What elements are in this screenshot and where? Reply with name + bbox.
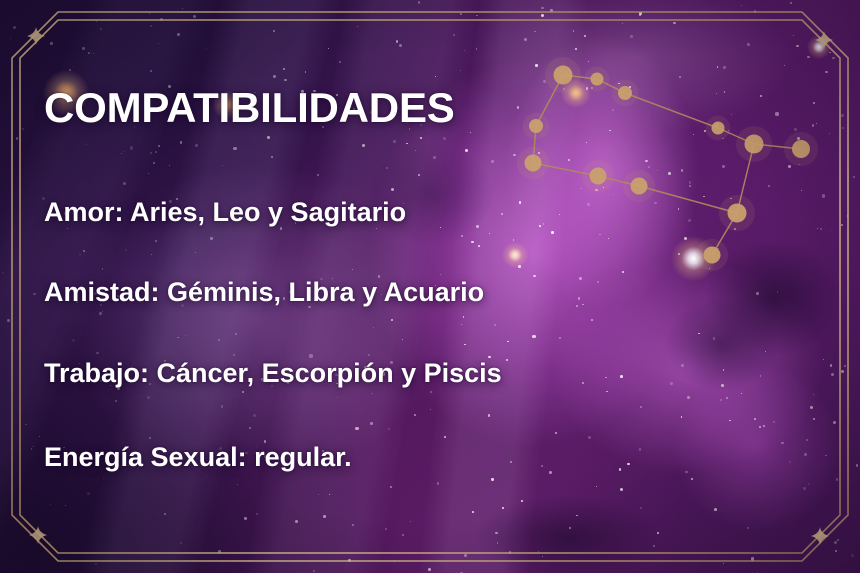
star-dot — [760, 375, 762, 377]
star-dot — [584, 35, 586, 37]
star-dot — [832, 57, 835, 60]
star-dot — [836, 478, 838, 480]
star-dot — [763, 425, 765, 427]
star-dot — [765, 351, 766, 352]
star-dot — [773, 421, 775, 423]
star-dot — [691, 478, 693, 480]
compatibility-line-trabajo: Trabajo: Cáncer, Escorpión y Piscis — [44, 359, 744, 389]
star-dot — [813, 418, 815, 420]
star-dot — [460, 13, 462, 15]
star-dot — [801, 190, 802, 191]
star-dot — [825, 71, 827, 73]
sparkle-icon-3 — [811, 527, 829, 545]
star-dot — [534, 31, 536, 33]
star-dot — [352, 524, 354, 526]
star-dot — [323, 515, 326, 518]
star-dot — [244, 517, 246, 519]
star-dot — [639, 14, 641, 16]
horoscope-compatibility-poster: COMPATIBILIDADES Amor: Aries, Leo y Sagi… — [0, 0, 860, 573]
star-dot — [829, 52, 830, 53]
star-dot — [2, 272, 4, 274]
star-dot — [788, 165, 791, 168]
star-dot — [775, 112, 778, 115]
star-dot — [573, 30, 574, 31]
star-dot — [283, 68, 285, 70]
star-dot — [781, 442, 784, 445]
star-dot — [853, 176, 855, 178]
star-dot — [812, 124, 814, 126]
star-dot — [847, 215, 848, 216]
star-dot — [622, 23, 623, 24]
star-dot — [7, 319, 10, 322]
star-dot — [535, 64, 538, 67]
star-dot — [22, 128, 24, 130]
star-dot — [673, 22, 676, 25]
star-dot — [653, 545, 655, 547]
star-dot — [476, 48, 478, 50]
star-dot — [714, 508, 717, 511]
star-dot — [541, 14, 544, 17]
star-dot — [823, 359, 824, 360]
star-dot — [741, 5, 742, 6]
star-dot — [410, 521, 411, 522]
star-dot — [804, 453, 807, 456]
star-dot — [576, 515, 577, 516]
sparkle-icon-4 — [29, 526, 47, 544]
bright-star-6 — [807, 35, 830, 58]
star-dot — [73, 67, 74, 68]
constellation-node-n6 — [792, 140, 810, 158]
star-dot — [820, 228, 822, 230]
sparkle-icon-2 — [815, 31, 833, 49]
star-dot — [418, 1, 421, 4]
star-dot — [844, 365, 846, 367]
star-dot — [813, 394, 814, 395]
star-dot — [29, 525, 30, 526]
star-dot — [841, 114, 844, 117]
compatibility-line-amor: Amor: Aries, Leo y Sagitario — [44, 198, 744, 228]
star-dot — [491, 478, 493, 480]
star-dot — [793, 35, 794, 36]
star-dot — [339, 61, 341, 63]
star-dot — [797, 137, 800, 140]
star-dot — [760, 95, 762, 97]
star-dot — [509, 551, 512, 554]
star-dot — [829, 133, 830, 134]
star-dot — [95, 563, 98, 566]
star-dot — [837, 539, 839, 541]
star-dot — [856, 464, 859, 467]
star-dot — [93, 53, 94, 54]
constellation-node-n5 — [745, 135, 764, 154]
star-dot — [150, 70, 152, 72]
star-dot — [50, 542, 51, 543]
star-dot — [831, 373, 834, 376]
star-dot — [88, 52, 90, 54]
star-dot — [575, 48, 577, 50]
text-content: COMPATIBILIDADES Amor: Aries, Leo y Sagi… — [44, 86, 744, 473]
star-dot — [495, 532, 498, 535]
star-dot — [723, 563, 724, 564]
star-dot — [18, 66, 19, 67]
star-dot — [759, 426, 761, 428]
star-dot — [158, 43, 159, 44]
star-dot — [543, 80, 546, 83]
star-dot — [399, 44, 402, 47]
star-dot — [437, 482, 440, 485]
star-dot — [50, 42, 53, 45]
star-dot — [588, 61, 589, 62]
star-dot — [542, 556, 543, 557]
star-dot — [796, 45, 798, 47]
star-dot — [464, 50, 465, 51]
star-dot — [13, 26, 16, 29]
star-dot — [807, 56, 809, 58]
star-dot — [630, 35, 633, 38]
star-dot — [834, 541, 837, 544]
star-dot — [794, 128, 797, 131]
star-dot — [679, 76, 681, 78]
star-dot — [784, 65, 785, 66]
page-title: COMPATIBILIDADES — [44, 86, 744, 130]
star-dot — [328, 48, 329, 49]
star-dot — [851, 554, 854, 557]
star-dot — [620, 488, 623, 491]
star-dot — [10, 38, 11, 39]
star-dot — [402, 534, 404, 536]
star-dot — [472, 511, 474, 513]
star-dot — [460, 70, 461, 71]
star-dot — [394, 561, 395, 562]
star-dot — [100, 28, 102, 30]
sparkle-icon-1 — [27, 27, 45, 45]
star-dot — [273, 75, 276, 78]
star-dot — [33, 446, 34, 447]
star-dot — [476, 15, 478, 17]
star-dot — [830, 230, 831, 231]
star-dot — [464, 554, 467, 557]
star-dot — [754, 10, 757, 13]
star-dot — [806, 439, 809, 442]
star-dot — [16, 137, 18, 139]
constellation-link — [563, 75, 597, 79]
star-dot — [789, 461, 791, 463]
star-dot — [453, 34, 455, 36]
star-dot — [284, 79, 287, 82]
star-dot — [747, 527, 749, 529]
constellation-link — [754, 144, 801, 149]
star-dot — [825, 455, 827, 457]
star-dot — [96, 21, 97, 22]
star-dot — [177, 33, 180, 36]
star-dot — [435, 76, 436, 77]
star-dot — [39, 436, 40, 437]
star-dot — [798, 164, 800, 166]
star-dot — [25, 424, 27, 426]
star-dot — [723, 66, 726, 69]
star-dot — [33, 293, 35, 295]
constellation-node-n2 — [591, 73, 604, 86]
star-dot — [657, 532, 659, 534]
star-dot — [295, 520, 298, 523]
constellation-node-n1 — [554, 66, 573, 85]
star-dot — [756, 292, 759, 295]
star-dot — [313, 570, 315, 572]
star-dot — [754, 418, 756, 420]
star-dot — [206, 48, 207, 49]
star-dot — [521, 500, 524, 503]
star-dot — [817, 228, 818, 229]
star-dot — [390, 486, 392, 488]
star-dot — [842, 127, 844, 129]
star-dot — [639, 12, 642, 15]
star-dot — [550, 9, 552, 11]
star-dot — [596, 486, 597, 487]
star-dot — [717, 66, 718, 67]
star-dot — [82, 47, 85, 50]
star-dot — [256, 513, 258, 515]
star-dot — [808, 483, 810, 485]
compatibility-line-energia: Energía Sexual: regular. — [44, 443, 744, 473]
star-dot — [777, 291, 778, 292]
star-dot — [841, 224, 843, 226]
star-dot — [786, 156, 787, 157]
star-dot — [502, 507, 504, 509]
star-dot — [305, 71, 306, 72]
star-dot — [830, 364, 833, 367]
star-dot — [396, 40, 399, 43]
star-dot — [87, 492, 90, 495]
star-dot — [249, 560, 250, 561]
star-dot — [810, 406, 813, 409]
star-dot — [160, 18, 163, 21]
star-dot — [640, 507, 642, 509]
star-dot — [768, 185, 770, 187]
star-dot — [273, 30, 275, 32]
star-dot — [618, 83, 619, 84]
star-dot — [803, 487, 806, 490]
star-dot — [816, 123, 817, 124]
star-dot — [348, 559, 351, 562]
star-dot — [193, 15, 196, 18]
star-dot — [164, 513, 166, 515]
star-dot — [813, 102, 815, 104]
star-dot — [538, 551, 539, 552]
star-dot — [569, 527, 571, 529]
star-dot — [218, 550, 221, 553]
star-dot — [237, 484, 238, 485]
constellation-node-halo — [784, 132, 818, 166]
star-dot — [329, 494, 330, 495]
star-dot — [149, 13, 150, 14]
star-dot — [318, 494, 319, 495]
star-dot — [37, 453, 38, 454]
star-dot — [524, 38, 527, 41]
star-dot — [65, 505, 66, 506]
star-dot — [428, 568, 431, 571]
compatibility-line-amistad: Amistad: Géminis, Libra y Acuario — [44, 278, 744, 308]
star-dot — [150, 25, 152, 27]
star-dot — [103, 478, 104, 479]
star-dot — [833, 421, 836, 424]
star-dot — [822, 194, 825, 197]
star-dot — [751, 557, 754, 560]
star-dot — [180, 542, 182, 544]
star-dot — [50, 504, 51, 505]
star-dot — [182, 8, 183, 9]
star-dot — [357, 26, 358, 27]
star-dot — [69, 69, 71, 71]
star-dot — [841, 370, 844, 373]
star-dot — [790, 2, 792, 4]
star-dot — [497, 542, 499, 544]
star-dot — [31, 448, 32, 449]
star-dot — [835, 550, 837, 552]
star-dot — [385, 528, 387, 530]
star-dot — [747, 43, 750, 46]
star-dot — [541, 7, 543, 9]
